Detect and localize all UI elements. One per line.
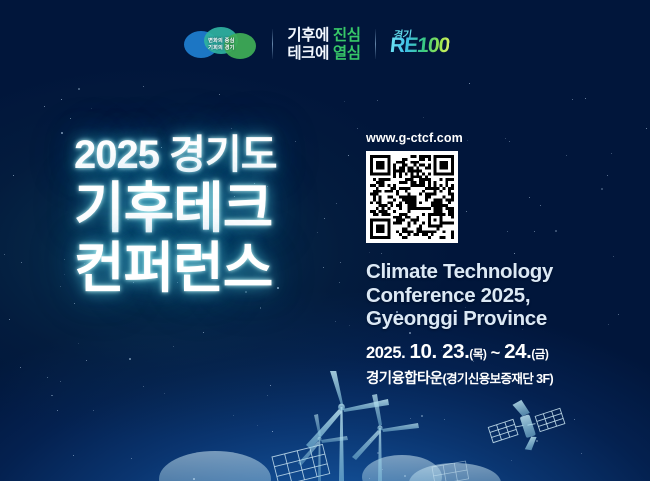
- title-ko-line-1: 2025 경기도: [74, 131, 277, 179]
- date-year: 2025.: [366, 344, 405, 362]
- satellite: [483, 389, 569, 460]
- title-ko-line-2: 기후테크: [74, 177, 277, 239]
- title-en-line-2: Conference 2025,: [366, 284, 628, 308]
- star-dot: [86, 360, 87, 361]
- star-dot: [357, 128, 358, 129]
- star-dot: [21, 262, 22, 263]
- turbine-blade-2: [343, 399, 389, 412]
- slogan-line2-green: 열심: [333, 45, 361, 62]
- star-dot: [335, 321, 336, 322]
- turbine-blade-3: [306, 409, 342, 449]
- header-divider-1: [272, 29, 273, 59]
- star-dot: [9, 319, 10, 320]
- event-venue: 경기융합타운(경기신용보증재단 3F): [366, 367, 628, 388]
- star-dot: [295, 141, 296, 142]
- date-tilde: ~: [491, 344, 500, 362]
- date-weekday-1: (목): [469, 349, 486, 361]
- date-weekday-2: (금): [531, 349, 548, 361]
- star-dot: [44, 106, 45, 107]
- date-day-2: 24.: [504, 340, 531, 363]
- logo-text-line1: 변화의 중심: [208, 38, 235, 44]
- info-column: www.g-ctcf.com Climate Technology Confer…: [366, 131, 628, 388]
- star-dot: [129, 358, 131, 360]
- star-dot: [64, 274, 65, 275]
- slogan-line1-green: 진심: [333, 27, 361, 44]
- star-dot: [340, 262, 341, 263]
- poster-title-english: Climate Technology Conference 2025, Gyeo…: [366, 260, 628, 331]
- star-dot: [377, 100, 378, 101]
- gyeonggi-re100-logo: 경기 RE100: [390, 26, 466, 62]
- star-dot: [20, 367, 21, 368]
- title-en-line-1: Climate Technology: [366, 260, 628, 284]
- star-dot: [423, 117, 424, 118]
- qr-code[interactable]: [366, 151, 458, 243]
- star-dot: [143, 86, 144, 87]
- star-dot: [91, 108, 92, 109]
- star-dot: [203, 332, 204, 333]
- star-dot: [78, 88, 80, 90]
- turbine2-tower: [378, 428, 382, 481]
- slogan-line2-white: 테크에: [287, 45, 329, 62]
- turbine3-blade-2: [321, 436, 348, 443]
- venue-name: 경기융합타운: [366, 371, 442, 387]
- satellite-dish: [522, 435, 540, 452]
- title-en-line-3: Gyeonggi Province: [366, 307, 628, 331]
- star-dot: [323, 267, 324, 268]
- star-dot: [646, 128, 647, 129]
- logo-text: 변화의 중심 기회의 경기: [184, 27, 258, 61]
- star-dot: [4, 254, 5, 255]
- campaign-slogan: 기후에 진심 테크에 열심: [287, 27, 360, 62]
- star-dot: [78, 343, 79, 344]
- star-dot: [60, 286, 61, 287]
- slogan-line-2: 테크에 열심: [287, 45, 360, 62]
- turbine2-blade-3: [352, 430, 381, 460]
- title-ko-line-3: 컨퍼런스: [74, 237, 277, 299]
- star-dot: [277, 287, 279, 289]
- scene-svg: [0, 371, 650, 481]
- renewable-energy-illustration: [0, 371, 650, 481]
- star-dot: [173, 346, 174, 347]
- star-dot: [61, 132, 63, 134]
- turbine2-blade-1: [372, 394, 382, 426]
- header-divider-2: [375, 29, 376, 59]
- turbine-tower: [339, 407, 344, 481]
- star-dot: [339, 282, 340, 283]
- turbine2-hub: [377, 425, 382, 430]
- star-dot: [585, 98, 586, 99]
- re100-mark: RE100: [388, 35, 450, 57]
- poster-title-korean: 2025 경기도 기후테크 컨퍼런스: [74, 131, 277, 299]
- star-dot: [324, 218, 325, 219]
- star-dot: [231, 128, 232, 129]
- star-dot: [572, 99, 573, 100]
- turbine-blade-1: [330, 371, 343, 405]
- star-dot: [469, 83, 470, 84]
- turbine3-hub: [318, 437, 322, 441]
- star-dot: [74, 303, 75, 304]
- logo-text-line2: 기회의 경기: [208, 45, 235, 51]
- hill-group: [159, 451, 501, 481]
- star-dot: [260, 307, 262, 309]
- gyeonggi-province-logo: 변화의 중심 기회의 경기: [184, 27, 258, 61]
- slogan-line-1: 기후에 진심: [287, 27, 360, 44]
- star-dot: [317, 232, 318, 233]
- header-logo-bar: 변화의 중심 기회의 경기 기후에 진심 테크에 열심 경기 RE100: [0, 26, 650, 62]
- star-dot: [13, 175, 14, 176]
- star-dot: [344, 101, 345, 102]
- star-dot: [70, 118, 71, 119]
- turbine2-blade-2: [382, 423, 419, 432]
- date-month-day: 10. 23.: [409, 340, 469, 363]
- venue-detail: (경기신용보증재단 3F): [442, 372, 553, 386]
- star-dot: [336, 203, 337, 204]
- star-dot: [61, 99, 62, 100]
- event-date: 2025. 10. 23.(목) ~ 24.(금): [366, 340, 628, 364]
- website-url[interactable]: www.g-ctcf.com: [366, 131, 628, 145]
- qr-code-image: [370, 155, 454, 239]
- star-dot: [64, 259, 65, 260]
- star-dot: [219, 94, 220, 95]
- slogan-line1-white: 기후에: [287, 27, 329, 44]
- star-dot: [348, 155, 349, 156]
- conference-poster: 변화의 중심 기회의 경기 기후에 진심 테크에 열심 경기 RE100 202…: [0, 0, 650, 481]
- star-dot: [349, 325, 350, 326]
- tree-blob-left: [159, 451, 271, 481]
